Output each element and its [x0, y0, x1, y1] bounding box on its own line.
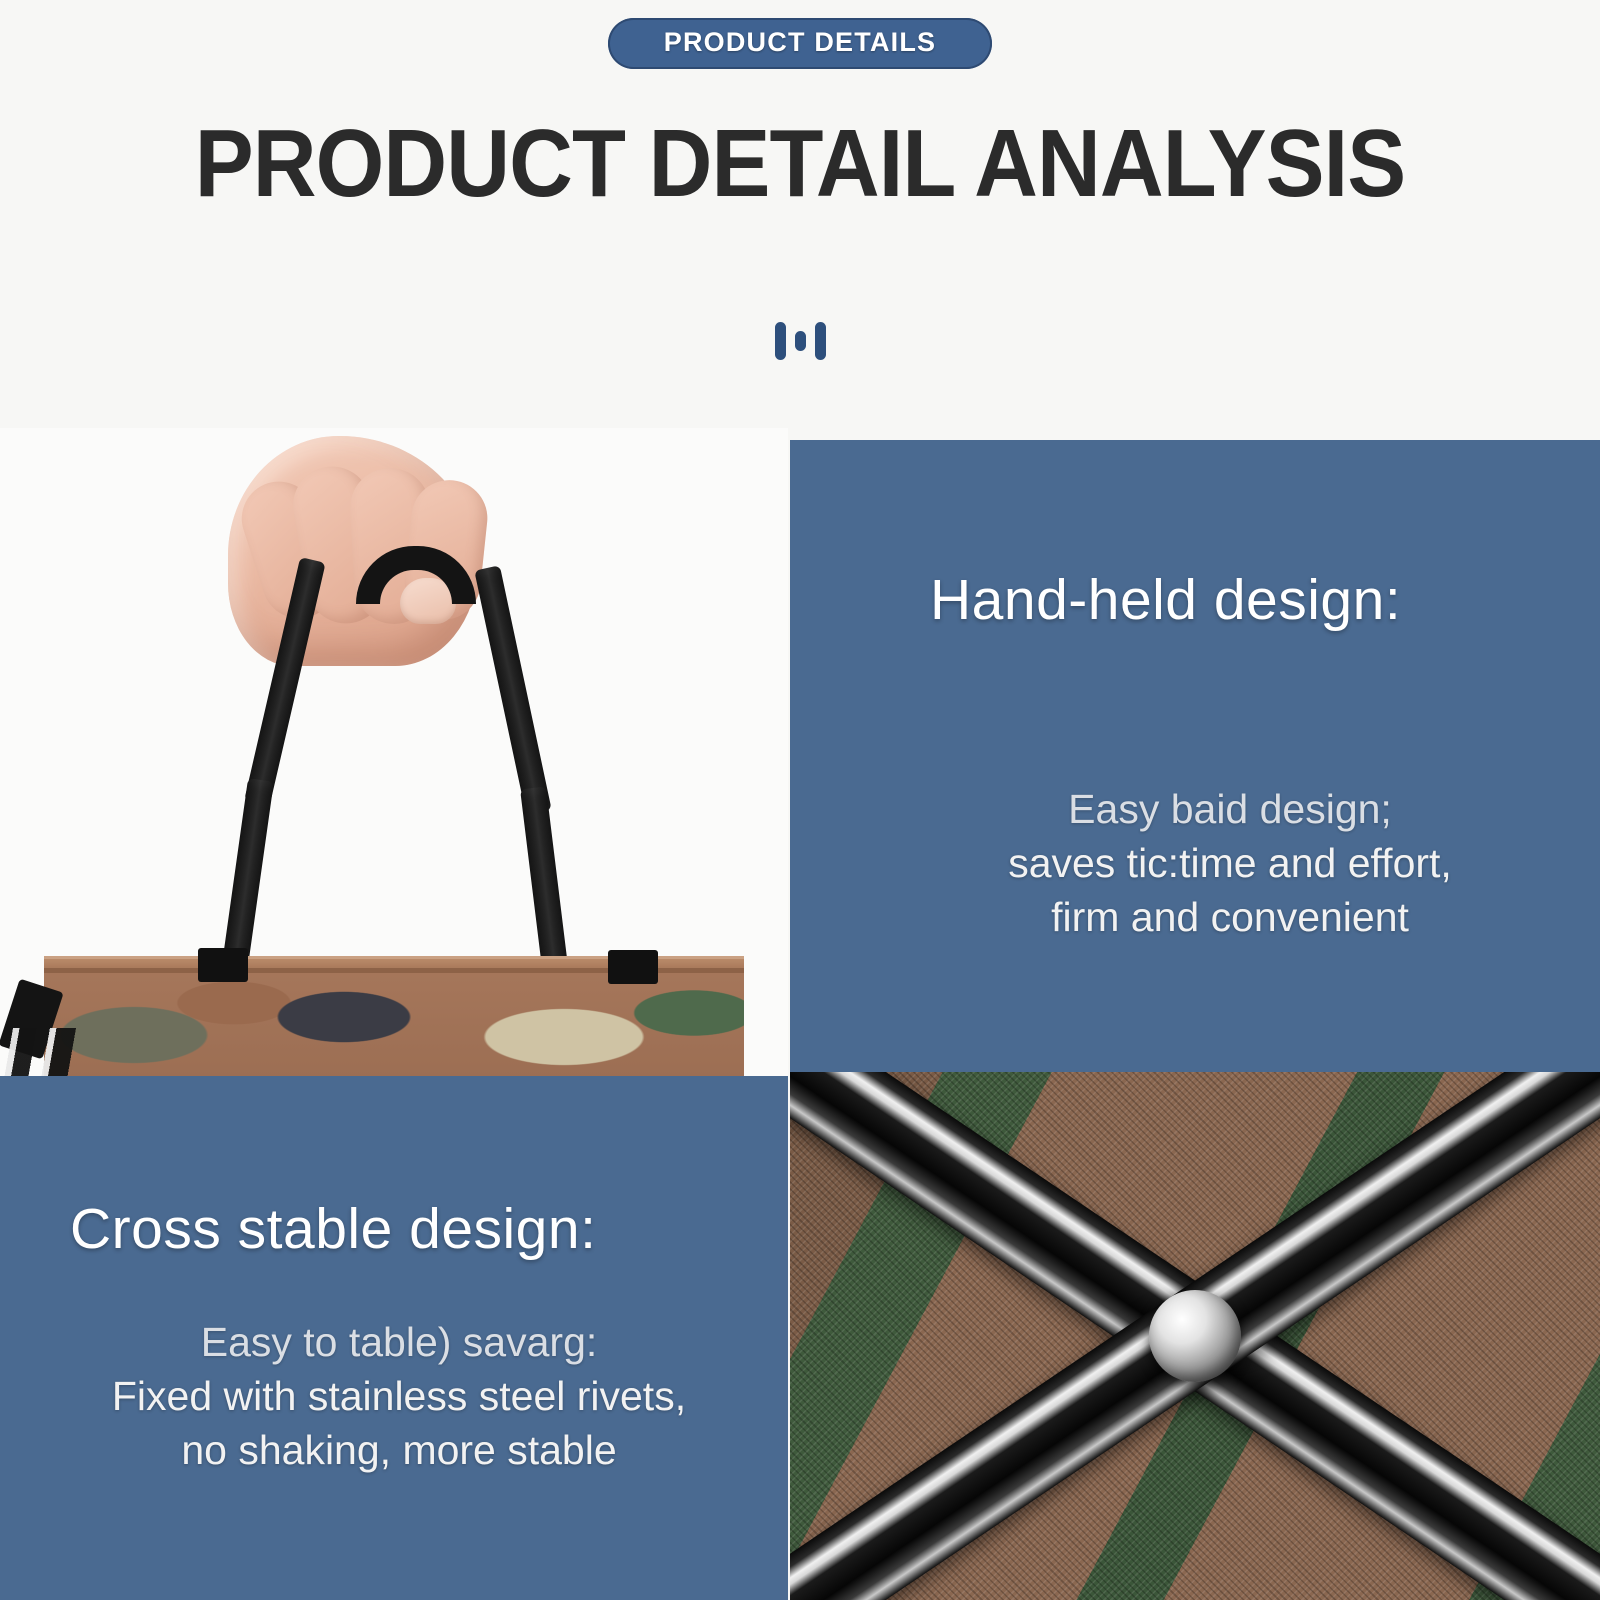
hand-held-panel-inner: Hand-held design: Easy baid design; save…	[790, 440, 1600, 1074]
hand-held-body-line-1: Easy baid design;	[930, 782, 1530, 836]
hand-bag-photo	[0, 428, 788, 1076]
cross-frame-photo-canvas	[790, 1072, 1600, 1600]
divider-bar-center	[795, 331, 806, 351]
hand-held-body-line-3: firm and convenient	[930, 890, 1530, 944]
stainless-steel-rivet	[1149, 1290, 1241, 1382]
bag-frame-detail	[0, 1028, 98, 1076]
cross-frame-photo	[790, 1072, 1600, 1600]
badge-row: PRODUCT DETAILS	[0, 18, 1600, 69]
strap-anchor-right	[608, 950, 658, 984]
page-title: PRODUCT DETAIL ANALYSIS	[64, 116, 1536, 212]
three-bars-divider-icon	[0, 322, 1600, 360]
strap-right-upper	[474, 565, 551, 815]
cross-stable-heading: Cross stable design:	[70, 1198, 596, 1261]
divider-bar-left	[775, 322, 786, 360]
cross-stable-body: Easy to table) savarg: Fixed with stainl…	[70, 1315, 728, 1477]
hand-held-design-panel: Hand-held design: Easy baid design; save…	[790, 440, 1600, 1074]
cross-stable-body-line-2: Fixed with stainless steel rivets,	[70, 1369, 728, 1423]
hand-held-body-line-2: saves tic:time and effort,	[930, 836, 1530, 890]
hand-held-body: Easy baid design; saves tic:time and eff…	[930, 782, 1530, 944]
cross-stable-body-line-1: Easy to table) savarg:	[70, 1315, 728, 1369]
product-details-badge[interactable]: PRODUCT DETAILS	[608, 18, 993, 69]
cross-stable-design-panel: Cross stable design: Easy to table) sava…	[0, 1076, 788, 1600]
cross-stable-panel-inner: Cross stable design: Easy to table) sava…	[0, 1076, 788, 1600]
product-detail-page: PRODUCT DETAILS PRODUCT DETAIL ANALYSIS	[0, 0, 1600, 1600]
camouflage-bag-body	[44, 968, 744, 1076]
cross-stable-body-line-3: no shaking, more stable	[70, 1423, 728, 1477]
hand-bag-photo-canvas	[0, 428, 788, 1076]
strap-anchor-left	[198, 948, 248, 982]
divider-bar-right	[815, 322, 826, 360]
hand-held-heading: Hand-held design:	[930, 569, 1401, 632]
